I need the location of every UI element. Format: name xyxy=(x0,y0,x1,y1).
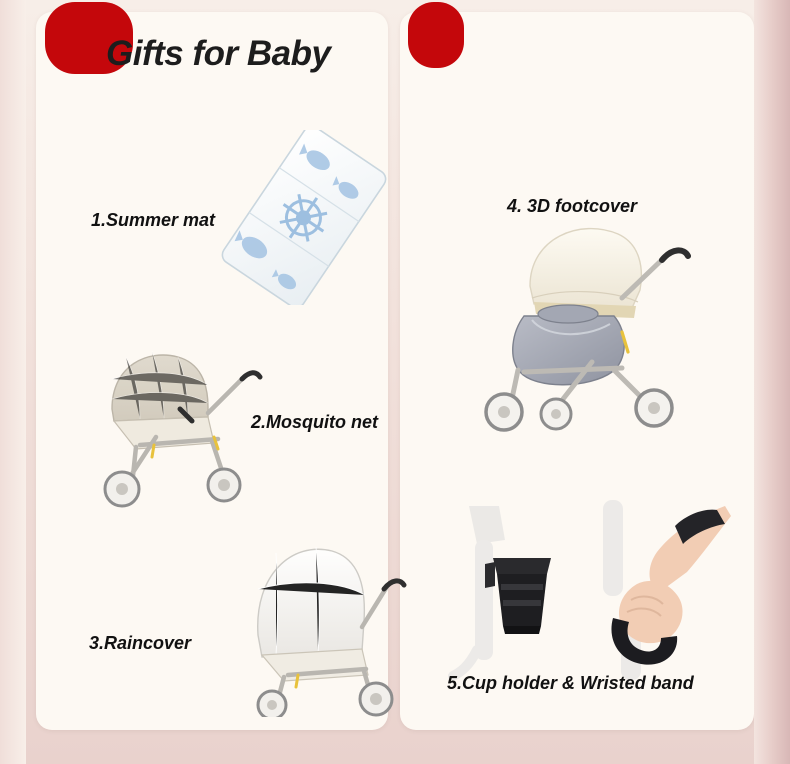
right-panel-accent-tab xyxy=(408,2,464,68)
right-panel: 4. 3D footcover 5.Cup holder & Wristed b… xyxy=(400,12,754,730)
product-gift-infographic: Gifts for Baby xyxy=(0,0,790,764)
stroller-icon xyxy=(236,517,411,717)
baby-mat-icon xyxy=(214,130,394,305)
stroller-icon xyxy=(96,317,276,517)
item-label-mosquito-net: 2.Mosquito net xyxy=(251,412,378,433)
item-label-summer-mat: 1.Summer mat xyxy=(91,210,215,231)
stroller-icon xyxy=(472,212,702,437)
item-label-footcover: 4. 3D footcover xyxy=(507,196,637,217)
item-label-cup-holder-wristed-band: 5.Cup holder & Wristed band xyxy=(447,673,694,694)
item-label-raincover: 3.Raincover xyxy=(89,633,191,654)
cup-holder-and-wrist-band-art xyxy=(425,500,745,680)
page-title: Gifts for Baby xyxy=(106,34,330,74)
left-panel: Gifts for Baby xyxy=(36,12,388,730)
